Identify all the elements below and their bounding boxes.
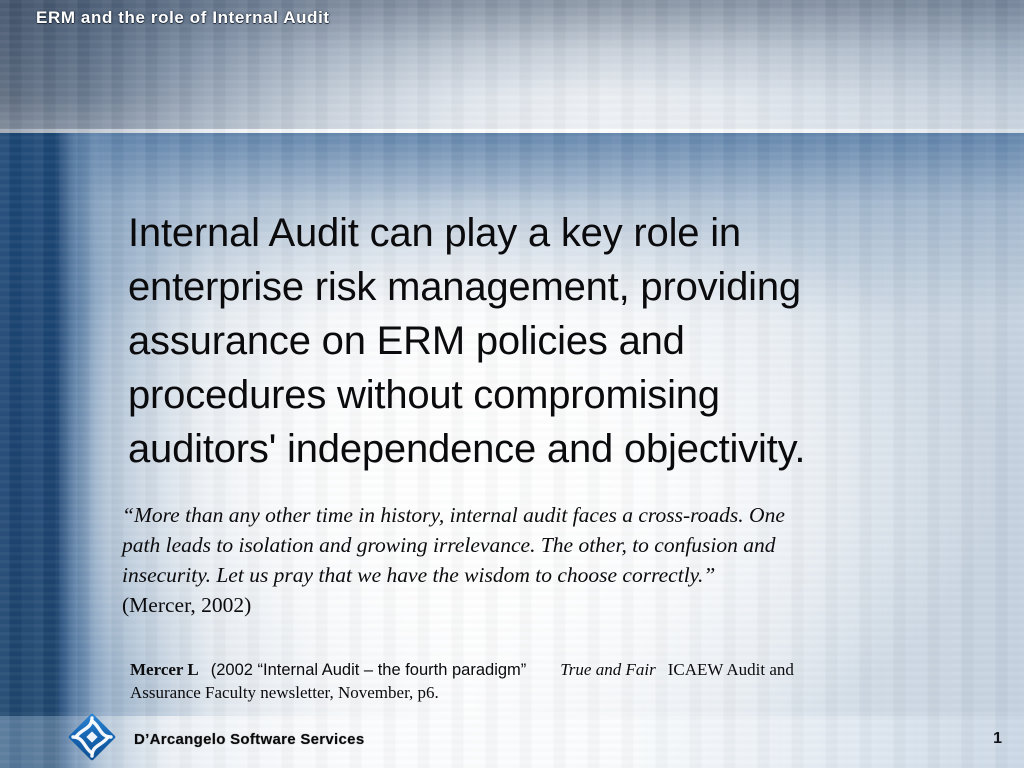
- citation-publication: True and Fair: [560, 660, 655, 679]
- citation-work: (2002 “Internal Audit – the fourth parad…: [211, 661, 527, 679]
- page-number: 1: [993, 730, 1002, 748]
- main-text-line: assurance on ERM policies and: [128, 314, 933, 368]
- citation-second-line: Assurance Faculty newsletter, November, …: [130, 683, 439, 702]
- citation-line-one: Mercer L(2002 “Internal Audit – the four…: [130, 659, 930, 682]
- quote-line: “More than any other time in history, in…: [122, 500, 937, 530]
- main-text-line: auditors' independence and objectivity.: [128, 422, 933, 476]
- main-text-line: Internal Audit can play a key role in: [128, 206, 933, 260]
- citation-publisher: ICAEW Audit and: [668, 660, 794, 679]
- citation-line-two: Assurance Faculty newsletter, November, …: [130, 682, 930, 705]
- quote-attribution: (Mercer, 2002): [122, 590, 937, 620]
- pull-quote-block: “More than any other time in history, in…: [122, 500, 937, 620]
- quote-line: insecurity. Let us pray that we have the…: [122, 560, 937, 590]
- main-text-block: Internal Audit can play a key role in en…: [128, 206, 933, 476]
- quote-line: path leads to isolation and growing irre…: [122, 530, 937, 560]
- slide-header-title: ERM and the role of Internal Audit: [36, 8, 330, 28]
- pinwheel-logo-icon: [67, 712, 117, 762]
- citation-block: Mercer L(2002 “Internal Audit – the four…: [130, 659, 930, 705]
- main-text-line: procedures without compromising: [128, 368, 933, 422]
- header-divider-rule: [0, 129, 1024, 133]
- footer-brand-text: D’Arcangelo Software Services: [134, 731, 364, 748]
- presentation-slide: ERM and the role of Internal Audit Inter…: [0, 0, 1024, 768]
- left-navy-bar: [0, 133, 59, 768]
- main-text-line: enterprise risk management, providing: [128, 260, 933, 314]
- citation-author: Mercer L: [130, 660, 199, 679]
